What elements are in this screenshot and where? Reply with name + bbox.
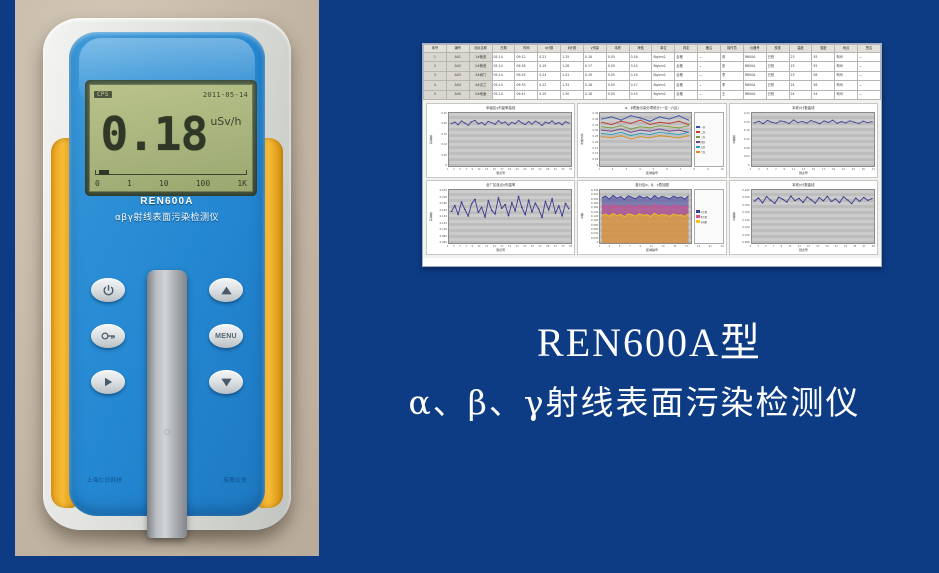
table-cell: 0.17: [583, 62, 606, 71]
chart-plot-area: [751, 189, 875, 244]
table-header-row: 序号编号测点名称日期时间α计数β计数γ剂量本底净值单位判定备注操作员仪器号校准温…: [424, 45, 881, 53]
footnote-right: 有限公司: [223, 476, 247, 484]
table-body: 1A011#管道05-1409:120.211.350.180.050.16Bq…: [424, 53, 881, 100]
device-outer-shell: CPS 2011-05-14 0.18 uSv/h 0 1: [43, 18, 291, 530]
chart-y-tick: 0.120: [737, 226, 750, 229]
table-cell: 55: [812, 53, 835, 62]
lcd-tick-1: 1: [127, 179, 132, 188]
legend-label: 二区: [701, 130, 706, 134]
table-cell: 1#管道: [469, 53, 492, 62]
table-cell: 23: [789, 71, 812, 80]
table-cell: 0.19: [538, 62, 561, 71]
chart-plot-area: [751, 112, 875, 167]
table-cell: R600A: [743, 71, 766, 80]
table-cell: 56: [812, 81, 835, 90]
table-cell: 李: [720, 71, 743, 80]
table-cell: 09:25: [515, 71, 538, 80]
chart-y-tick: 0.180: [737, 204, 750, 207]
table-cell: 已校: [766, 71, 789, 80]
legend-entry: 二区: [696, 130, 722, 134]
legend-swatch: [696, 146, 700, 149]
table-cell: —: [858, 62, 881, 71]
table-cell: 车间: [835, 53, 858, 62]
footnote-left: 上海仁日科技: [87, 476, 122, 484]
chart-y-tick: 0.10: [434, 143, 447, 146]
chart-y-tick: 0.220: [434, 189, 447, 192]
table-col-9: 净值: [629, 45, 652, 53]
table-cell: 4: [424, 81, 447, 90]
legend-entry: 五区: [696, 145, 722, 149]
table-cell: 24: [789, 90, 812, 99]
table-cell: 0.05: [606, 81, 629, 90]
chart-panel: 本底γ计数曲线计数率0.2200.2000.1800.1600.1400.120…: [729, 180, 878, 255]
lcd-reading: 0.18 uSv/h: [90, 103, 252, 165]
table-cell: 车间: [835, 62, 858, 71]
table-cell: —: [858, 71, 881, 80]
chart-y-tick: 0.140: [737, 219, 750, 222]
table-row[interactable]: 4A044#法兰05-1409:330.221.330.180.050.17Bq…: [424, 81, 881, 90]
table-cell: 1.33: [561, 81, 584, 90]
chart-title: 本底γ计数曲线: [730, 181, 877, 188]
product-photo: CPS 2011-05-14 0.18 uSv/h 0 1: [15, 0, 319, 556]
table-col-18: 地点: [835, 45, 858, 53]
chart-y-tick: 0.20: [737, 121, 750, 124]
legend-swatch: [696, 136, 700, 139]
chart-y-axis-label: 计数: [579, 189, 585, 244]
chart-y-tick: 0.100: [585, 219, 598, 222]
table-cell: —: [698, 81, 721, 90]
chart-y-ticks: 0.450.400.350.300.250.200.150.100.050: [585, 112, 599, 167]
lcd-tick-4: 1K: [237, 179, 247, 188]
chart-y-ticks: 0.2200.2000.1800.1600.1400.1200.1000.080…: [434, 189, 448, 244]
table-cell: R600A: [743, 53, 766, 62]
table-cell: 0.21: [538, 53, 561, 62]
table-row[interactable]: 5A055#地面05-1409:410.201.300.180.050.15Bq…: [424, 90, 881, 99]
table-cell: A04: [446, 81, 469, 90]
chart-y-tick: 0.220: [737, 189, 750, 192]
up-button[interactable]: [209, 278, 243, 302]
table-cell: 09:18: [515, 62, 538, 71]
table-cell: 05-14: [492, 81, 515, 90]
table-cell: 5#地面: [469, 90, 492, 99]
chart-y-tick: 0.080: [434, 235, 447, 238]
chart-y-tick: 0.16: [737, 129, 750, 132]
chart-panel: 甲级区γ剂量率曲线剂量率0.250.200.150.100.0501357911…: [426, 103, 575, 178]
table-cell: 4#法兰: [469, 81, 492, 90]
power-button[interactable]: [91, 278, 125, 302]
chart-y-axis-label: 计数率: [731, 189, 737, 244]
table-cell: 24: [789, 81, 812, 90]
chart-y-tick: 0.140: [434, 215, 447, 218]
table-cell: 车间: [835, 81, 858, 90]
play-button[interactable]: [91, 370, 125, 394]
handle-screw-dot: [165, 430, 169, 434]
device-front-panel: CPS 2011-05-14 0.18 uSv/h 0 1: [69, 32, 265, 516]
chart-y-tick: 0.04: [737, 155, 750, 158]
chart-title: α、β表面污染分项统计(一区~六区): [578, 104, 725, 111]
table-cell: 05-14: [492, 71, 515, 80]
lcd-date: 2011-05-14: [203, 91, 248, 99]
table-cell: —: [698, 62, 721, 71]
lcd-unit: uSv/h: [210, 115, 241, 128]
table-row[interactable]: 2A022#管道05-1409:180.191.280.170.050.14Bq…: [424, 62, 881, 71]
table-col-12: 备注: [698, 45, 721, 53]
legend-swatch: [696, 210, 700, 213]
triangle-down-icon: [220, 377, 233, 388]
legend-entry: 四区: [696, 140, 722, 144]
lcd-tick-2: 10: [159, 179, 169, 188]
table-cell: 1.30: [561, 90, 584, 99]
table-col-2: 测点名称: [469, 45, 492, 53]
table-cell: R600A: [743, 90, 766, 99]
device-nameplate: REN600A αβγ射线表面污染检测仪: [69, 196, 265, 223]
down-button[interactable]: [209, 370, 243, 394]
table-col-19: 签名: [858, 45, 881, 53]
chart-x-axis-label: 测点号: [427, 171, 574, 177]
chart-y-tick: 0.30: [585, 129, 598, 132]
chart-y-tick: 0.120: [434, 222, 447, 225]
chart-plot-area: [599, 189, 691, 244]
table-cell: 合格: [675, 90, 698, 99]
table-cell: 0.15: [629, 90, 652, 99]
chart-y-tick: 0.15: [434, 133, 447, 136]
table-cell: 0.19: [583, 71, 606, 80]
table-cell: 车间: [835, 90, 858, 99]
table-col-7: γ剂量: [583, 45, 606, 53]
lcd-scale-ticks: 0 1 10 100 1K: [93, 177, 249, 189]
menu-button-label: MENU: [215, 333, 237, 340]
chart-y-tick: 0.20: [585, 141, 598, 144]
chart-y-tick: 0.25: [585, 135, 598, 138]
legend-label: 三区: [701, 135, 706, 139]
triangle-up-icon: [220, 285, 233, 296]
table-cell: 0.16: [629, 53, 652, 62]
table-cell: 0.05: [606, 90, 629, 99]
lcd-bargraph-frame: [95, 170, 247, 175]
chart-y-tick: 0.060: [585, 228, 598, 231]
measurement-data-table: 序号编号测点名称日期时间α计数β计数γ剂量本底净值单位判定备注操作员仪器号校准温…: [423, 44, 881, 100]
search-button[interactable]: [91, 324, 125, 348]
chart-y-tick: 0.040: [585, 232, 598, 235]
table-col-5: α计数: [538, 45, 561, 53]
table-cell: 3: [424, 71, 447, 80]
table-col-0: 序号: [424, 45, 447, 53]
legend-swatch: [696, 126, 700, 129]
legend-entry: 六区: [696, 150, 722, 154]
chart-y-tick: 0.160: [737, 211, 750, 214]
chart-y-tick: 0.160: [434, 209, 447, 212]
table-cell: 54: [812, 90, 835, 99]
legend-label: 四区: [701, 140, 706, 144]
table-cell: 0.05: [606, 53, 629, 62]
chart-y-axis-label: 计数率: [731, 112, 737, 167]
chart-y-tick: 0: [737, 164, 750, 167]
table-col-15: 校准: [766, 45, 789, 53]
lcd-mode-badge: CPS: [94, 91, 112, 98]
table-cell: 合格: [675, 53, 698, 62]
chart-x-axis-label: 区域编号: [578, 248, 725, 254]
legend-entry: α计数: [696, 210, 722, 214]
panel-footnote: 上海仁日科技 有限公司: [69, 476, 265, 484]
lcd-bargraph-fill: [99, 170, 109, 175]
chart-title: 全厂区逐点γ剂量率: [427, 181, 574, 188]
table-cell: A03: [446, 71, 469, 80]
table-col-10: 单位: [652, 45, 675, 53]
chart-y-tick: 0: [585, 164, 598, 167]
table-header: 序号编号测点名称日期时间α计数β计数γ剂量本底净值单位判定备注操作员仪器号校准温…: [424, 45, 881, 53]
table-cell: 已校: [766, 81, 789, 90]
legend-entry: β计数: [696, 215, 722, 219]
chart-y-tick: 0: [434, 164, 447, 167]
chart-title: 甲级区γ剂量率曲线: [427, 104, 574, 111]
table-cell: 车间: [835, 71, 858, 80]
table-cell: R600A: [743, 81, 766, 90]
table-col-1: 编号: [446, 45, 469, 53]
table-cell: 23: [789, 62, 812, 71]
chart-y-tick: 0.200: [585, 198, 598, 201]
table-row[interactable]: 1A011#管道05-1409:120.211.350.180.050.16Bq…: [424, 53, 881, 62]
table-cell: A01: [446, 53, 469, 62]
table-cell: 0.18: [583, 53, 606, 62]
lcd-tick-0: 0: [95, 179, 100, 188]
menu-button[interactable]: MENU: [209, 324, 243, 348]
table-cell: Bq/cm2: [652, 62, 675, 71]
chart-y-tick: 0.100: [434, 228, 447, 231]
table-cell: 3#阀门: [469, 71, 492, 80]
chart-y-tick: 0: [585, 241, 598, 244]
table-cell: —: [698, 90, 721, 99]
chart-y-tick: 0.12: [737, 138, 750, 141]
table-cell: 1: [424, 53, 447, 62]
chart-panel: 本底γ计数曲线计数率0.240.200.160.120.080.04013579…: [729, 103, 878, 178]
chart-y-axis-label: 剂量率: [428, 189, 434, 244]
lcd-value: 0.18: [101, 111, 208, 157]
chart-y-tick: 0.080: [585, 224, 598, 227]
chart-legend: 一区二区三区四区五区六区: [694, 112, 724, 167]
chart-x-axis-label: 测点号: [730, 171, 877, 177]
legend-label: 五区: [701, 145, 706, 149]
lcd-status-bar: CPS 2011-05-14: [94, 88, 248, 101]
chart-x-axis-label: 区域编号: [578, 171, 725, 177]
table-cell: 王: [720, 90, 743, 99]
chart-y-tick: 0.05: [585, 158, 598, 161]
chart-y-tick: 0.24: [737, 112, 750, 115]
table-cell: 56: [812, 71, 835, 80]
lcd-screen: CPS 2011-05-14 0.18 uSv/h 0 1: [89, 84, 253, 192]
legend-swatch: [696, 141, 700, 144]
table-cell: 合格: [675, 81, 698, 90]
legend-entry: γ剂量: [696, 220, 722, 224]
table-cell: 0.14: [629, 62, 652, 71]
chart-y-tick: 0.180: [434, 202, 447, 205]
table-cell: Bq/cm2: [652, 81, 675, 90]
chart-y-tick: 0.140: [585, 211, 598, 214]
table-cell: 张: [720, 53, 743, 62]
chart-panel: α、β表面污染分项统计(一区~六区)污染水平0.450.400.350.300.…: [577, 103, 726, 178]
table-cell: 已校: [766, 53, 789, 62]
table-cell: 已校: [766, 90, 789, 99]
chart-y-tick: 0.35: [585, 124, 598, 127]
chart-y-axis-label: 剂量率: [428, 112, 434, 167]
legend-label: 一区: [701, 125, 706, 129]
legend-label: β计数: [701, 215, 707, 219]
table-cell: 2#管道: [469, 62, 492, 71]
chart-y-tick: 0.200: [434, 196, 447, 199]
chart-plot-area: [448, 112, 572, 167]
chart-y-tick: 0.20: [434, 122, 447, 125]
legend-label: 六区: [701, 150, 706, 154]
legend-entry: 三区: [696, 135, 722, 139]
chart-y-tick: 0.05: [434, 154, 447, 157]
legend-swatch: [696, 151, 700, 154]
legend-label: γ剂量: [701, 220, 707, 224]
table-col-17: 湿度: [812, 45, 835, 53]
chart-y-ticks: 0.2400.2200.2000.1800.1600.1400.1200.100…: [585, 189, 599, 244]
table-cell: A02: [446, 62, 469, 71]
lcd-bargraph: 0 1 10 100 1K: [93, 169, 249, 189]
chart-y-tick: 0.120: [585, 215, 598, 218]
table-cell: 0.05: [606, 71, 629, 80]
chart-y-tick: 0.060: [434, 241, 447, 244]
chart-y-tick: 0.220: [585, 193, 598, 196]
table-cell: —: [858, 90, 881, 99]
table-cell: 0.18: [583, 90, 606, 99]
table-cell: 05-14: [492, 62, 515, 71]
table-cell: 1.41: [561, 71, 584, 80]
charts-grid: 甲级区γ剂量率曲线剂量率0.250.200.150.100.0501357911…: [423, 100, 881, 258]
table-cell: 09:33: [515, 81, 538, 90]
chart-y-tick: 0.100: [737, 234, 750, 237]
product-description-title: α、β、γ射线表面污染检测仪: [330, 377, 939, 429]
table-col-11: 判定: [675, 45, 698, 53]
chart-y-tick: 0.180: [585, 202, 598, 205]
table-cell: 0.24: [538, 71, 561, 80]
software-screenshot: 序号编号测点名称日期时间α计数β计数γ剂量本底净值单位判定备注操作员仪器号校准温…: [422, 43, 882, 267]
chart-panel: 全厂区逐点γ剂量率剂量率0.2200.2000.1800.1600.1400.1…: [426, 180, 575, 255]
legend-swatch: [696, 220, 700, 223]
key-icon: [101, 330, 116, 342]
chart-y-tick: 0.40: [585, 118, 598, 121]
chart-y-ticks: 0.240.200.160.120.080.040: [737, 112, 751, 167]
chart-x-axis-label: 测点号: [427, 248, 574, 254]
play-icon: [102, 376, 114, 388]
chart-y-tick: 0.25: [434, 112, 447, 115]
table-cell: 2: [424, 62, 447, 71]
legend-swatch: [696, 131, 700, 134]
table-cell: 23: [789, 53, 812, 62]
title-block: REN600A型 α、β、γ射线表面污染检测仪: [330, 315, 939, 429]
chart-y-tick: 0.10: [585, 152, 598, 155]
product-model-title: REN600A型: [330, 315, 939, 371]
lcd-tick-3: 100: [196, 179, 210, 188]
table-cell: 0.17: [629, 81, 652, 90]
chart-panel: 各分区α、β、γ叠加图计数0.2400.2200.2000.1800.1600.…: [577, 180, 726, 255]
chart-y-tick: 0.15: [585, 147, 598, 150]
chart-title: 本底γ计数曲线: [730, 104, 877, 111]
chart-x-axis-label: 测点号: [730, 248, 877, 254]
chart-y-ticks: 0.2200.2000.1800.1600.1400.1200.1000.080: [737, 189, 751, 244]
chart-y-tick: 0.200: [737, 196, 750, 199]
table-col-13: 操作员: [720, 45, 743, 53]
table-cell: Bq/cm2: [652, 71, 675, 80]
chart-y-tick: 0.08: [737, 147, 750, 150]
table-cell: —: [698, 53, 721, 62]
legend-label: α计数: [701, 210, 707, 214]
table-col-16: 温度: [789, 45, 812, 53]
table-cell: 1.35: [561, 53, 584, 62]
chart-y-ticks: 0.250.200.150.100.050: [434, 112, 448, 167]
chart-title: 各分区α、β、γ叠加图: [578, 181, 725, 188]
table-col-8: 本底: [606, 45, 629, 53]
table-cell: 合格: [675, 71, 698, 80]
table-cell: 李: [720, 81, 743, 90]
device-chinese-label: αβγ射线表面污染检测仪: [69, 210, 265, 223]
power-icon: [102, 284, 115, 297]
table-row[interactable]: 3A033#阀门05-1409:250.241.410.190.050.19Bq…: [424, 71, 881, 80]
table-cell: 0.05: [606, 62, 629, 71]
table-cell: Bq/cm2: [652, 53, 675, 62]
table-col-6: β计数: [561, 45, 584, 53]
chart-plot-area: [599, 112, 691, 167]
chart-y-tick: 0.080: [737, 241, 750, 244]
table-cell: 0.20: [538, 90, 561, 99]
table-cell: A05: [446, 90, 469, 99]
table-cell: Bq/cm2: [652, 90, 675, 99]
chart-y-axis-label: 污染水平: [579, 112, 585, 167]
chart-legend: α计数β计数γ剂量: [694, 189, 724, 244]
chart-y-tick: 0.45: [585, 112, 598, 115]
table-cell: 55: [812, 62, 835, 71]
chart-plot-area: [448, 189, 572, 244]
chart-y-tick: 0.160: [585, 206, 598, 209]
chart-y-tick: 0.240: [585, 189, 598, 192]
legend-swatch: [696, 215, 700, 218]
table-cell: 张: [720, 62, 743, 71]
table-cell: 05-14: [492, 90, 515, 99]
table-cell: R600A: [743, 62, 766, 71]
table-col-4: 时间: [515, 45, 538, 53]
table-cell: 1.28: [561, 62, 584, 71]
table-col-3: 日期: [492, 45, 515, 53]
table-cell: 已校: [766, 62, 789, 71]
table-col-14: 仪器号: [743, 45, 766, 53]
table-cell: 09:12: [515, 53, 538, 62]
table-cell: 09:41: [515, 90, 538, 99]
chart-y-tick: 0.020: [585, 237, 598, 240]
table-cell: 0.22: [538, 81, 561, 90]
table-cell: —: [858, 81, 881, 90]
device-model-label: REN600A: [69, 196, 265, 207]
legend-entry: 一区: [696, 125, 722, 129]
device-handle-strip: [147, 270, 187, 538]
table-cell: 0.18: [583, 81, 606, 90]
table-cell: 0.19: [629, 71, 652, 80]
table-cell: —: [698, 71, 721, 80]
table-cell: —: [858, 53, 881, 62]
lcd-bezel: CPS 2011-05-14 0.18 uSv/h 0 1: [85, 80, 257, 196]
table-cell: 合格: [675, 62, 698, 71]
table-cell: 05-14: [492, 53, 515, 62]
table-cell: 5: [424, 90, 447, 99]
